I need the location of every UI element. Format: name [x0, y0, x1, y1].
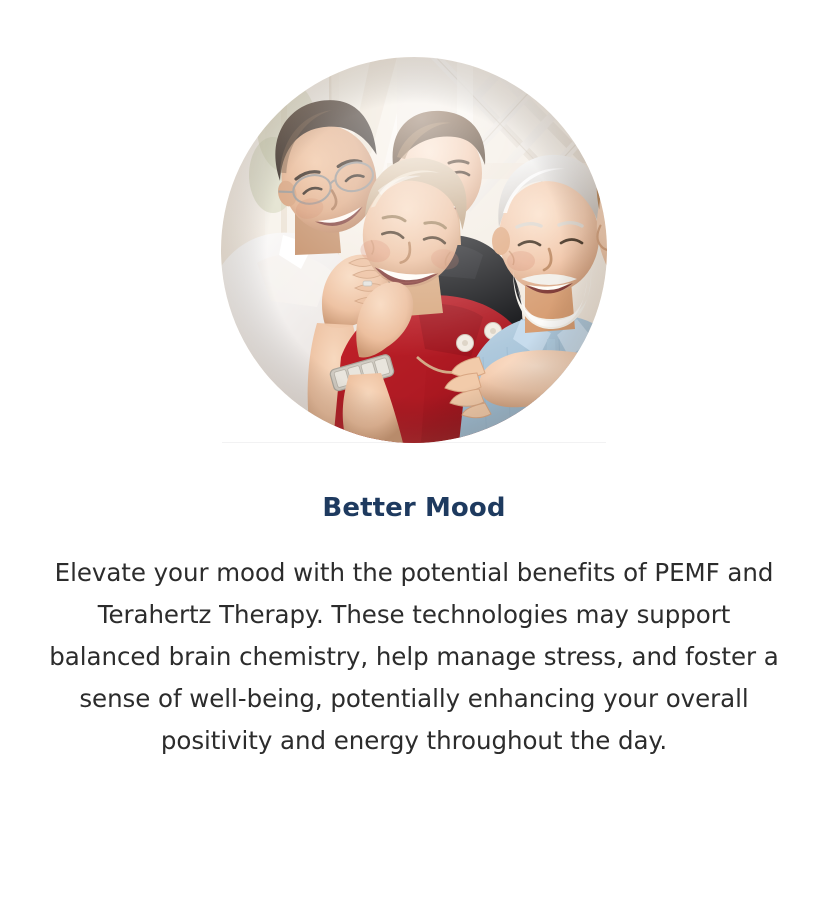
feature-image-wrap [221, 57, 607, 443]
feature-card: Better Mood Elevate your mood with the p… [0, 0, 828, 898]
family-portrait-photo [221, 57, 607, 443]
feature-description: Elevate your mood with the potential ben… [42, 524, 787, 762]
feature-text-block: Better Mood Elevate your mood with the p… [34, 443, 794, 762]
page-title: Better Mood [34, 443, 794, 524]
